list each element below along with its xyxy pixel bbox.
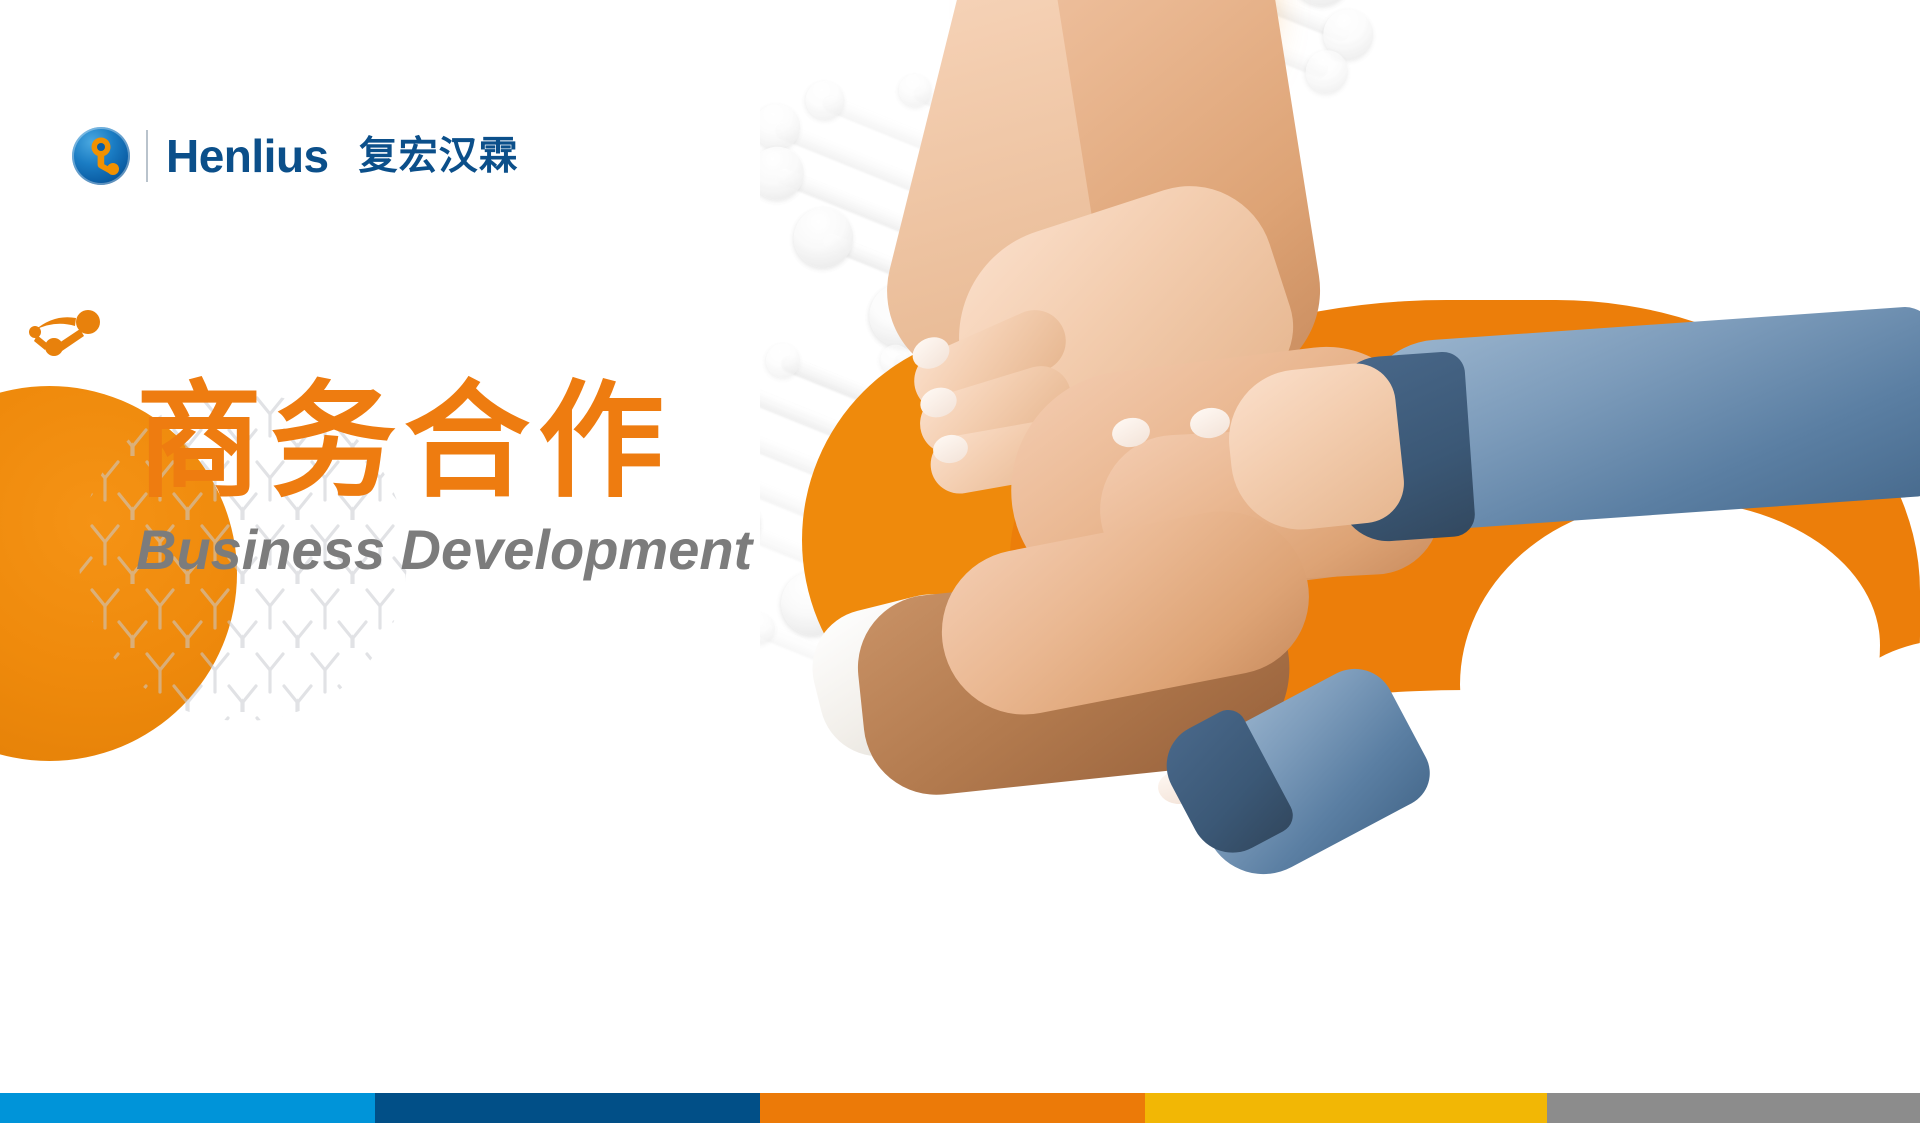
bottom-bar-segment-light-blue [0,1093,375,1123]
dna-ball [760,138,812,208]
dna-ball [800,75,850,125]
page-title-chinese: 商务合作 [136,378,856,507]
hero-photo-collage [760,0,1920,1093]
henlius-logo[interactable]: Henlius 复宏汉霖 [72,125,519,187]
molecule-accent-icon [28,310,106,358]
dna-ball [761,338,805,382]
page-title-english: Business Development [136,517,856,582]
bottom-color-bar [0,1093,1920,1123]
henlius-globe-molecule-mark [72,127,130,185]
logo-chinese-name: 复宏汉霖 [359,137,519,176]
bottom-bar-segment-dark-blue [375,1093,760,1123]
logo-wordmark: Henlius [166,133,329,179]
bottom-bar-segment-orange [760,1093,1145,1123]
title-block: 商务合作 Business Development [136,378,856,582]
presentation-slide: Henlius 复宏汉霖 商务合作 Business Development [0,0,1920,1123]
white-carve-top-right [1480,540,1810,710]
bottom-bar-segment-gray [1547,1093,1920,1123]
bottom-bar-segment-gold [1145,1093,1547,1123]
logo-divider [146,130,148,182]
